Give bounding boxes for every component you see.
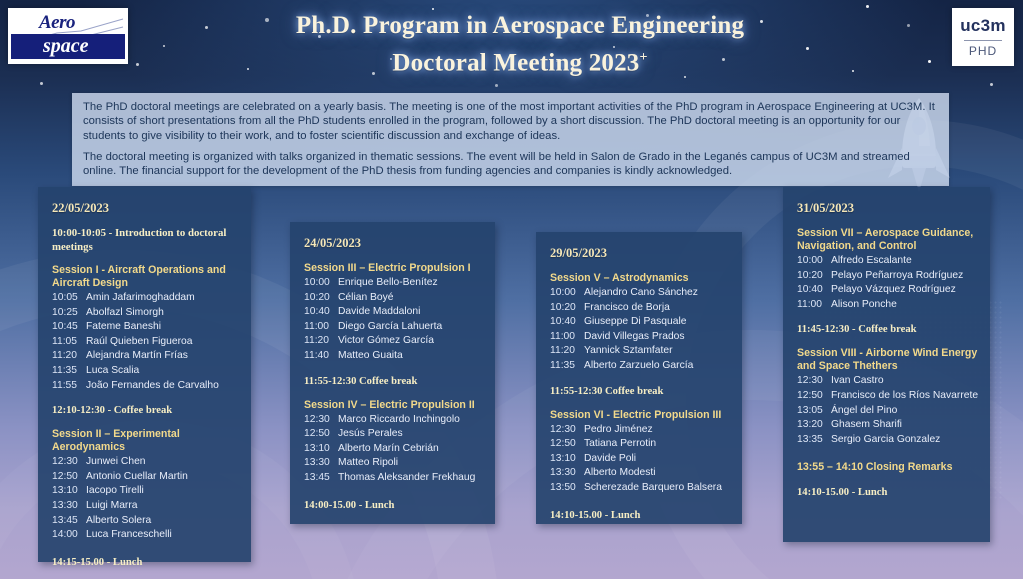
talk-speaker: Célian Boyé [338,291,495,306]
talk-row: 11:00Alison Ponche [797,298,990,313]
talk-speaker: Luca Scalia [86,364,251,379]
page-title: Ph.D. Program in Aerospace Engineering D… [150,10,890,79]
talk-row: 13:10Iacopo Tirelli [52,484,251,499]
talk-row: 10:20Célian Boyé [304,291,495,306]
talk-time: 10:25 [52,306,86,321]
talk-row: 11:55João Fernandes de Carvalho [52,379,251,394]
talk-time: 12:30 [304,413,338,428]
talk-time: 11:40 [304,349,338,364]
talk-speaker: Tatiana Perrotin [584,437,742,452]
talk-row: 10:00Enrique Bello-Benítez [304,276,495,291]
talk-row: 11:20Alejandra Martín Frías [52,349,251,364]
talk-row: 13:45Alberto Solera [52,514,251,529]
intro-text-box: The PhD doctoral meetings are celebrated… [72,93,949,186]
coffee-break-label: 12:10-12:30 - Coffee break [52,405,251,416]
session-title: Session I - Aircraft Operations and Airc… [52,264,251,290]
talk-speaker: Yannick Sztamfater [584,344,742,359]
talk-row: 10:25Abolfazl Simorgh [52,306,251,321]
talk-time: 10:05 [52,291,86,306]
lunch-label: 14:15-15.00 - Lunch [52,557,251,568]
talk-time: 10:00 [797,254,831,269]
talk-row: 13:45Thomas Aleksander Frekhaug [304,471,495,486]
uc3m-divider [964,40,1002,41]
title-line-2: Doctoral Meeting 2023+ [150,42,890,79]
session-title: Session VII – Aerospace Guidance, Naviga… [797,227,990,253]
talk-time: 13:30 [52,499,86,514]
talk-time: 13:30 [304,456,338,471]
talk-time: 14:00 [52,528,86,543]
talk-speaker: Thomas Aleksander Frekhaug [338,471,495,486]
talk-time: 13:10 [304,442,338,457]
talk-speaker: Raúl Quieben Figueroa [86,335,251,350]
talk-time: 11:00 [304,320,338,335]
talk-time: 12:50 [550,437,584,452]
talk-row: 10:00Alfredo Escalante [797,254,990,269]
lunch-label: 14:10-15.00 - Lunch [797,487,990,498]
talk-time: 12:30 [52,455,86,470]
talk-time: 13:05 [797,404,831,419]
talk-speaker: Ghasem Sharifi [831,418,990,433]
lunch-label: 14:10-15.00 - Lunch [550,510,742,521]
star-decoration [907,24,910,27]
closing-remarks-label: 13:55 – 14:10 Closing Remarks [797,461,990,473]
talk-time: 11:20 [52,349,86,364]
coffee-break-label: 11:55-12:30 Coffee break [550,386,742,397]
talk-row: 12:50Francisco de los Ríos Navarrete [797,389,990,404]
talk-speaker: João Fernandes de Carvalho [86,379,251,394]
talk-row: 13:30Alberto Modesti [550,466,742,481]
talk-speaker: Davide Maddaloni [338,305,495,320]
talk-time: 11:20 [550,344,584,359]
talk-speaker: Ángel del Pino [831,404,990,419]
talk-row: 11:20Yannick Sztamfater [550,344,742,359]
title-line-1: Ph.D. Program in Aerospace Engineering [150,10,890,42]
talk-speaker: Alejandro Cano Sánchez [584,286,742,301]
session-title: Session VIII - Airborne Wind Energy and … [797,347,990,373]
talk-row: 10:40Giuseppe Di Pasquale [550,315,742,330]
talk-time: 10:20 [550,301,584,316]
talk-row: 12:50Tatiana Perrotin [550,437,742,452]
talk-time: 10:40 [304,305,338,320]
talk-time: 10:00 [550,286,584,301]
talk-row: 13:10Alberto Marín Cebrián [304,442,495,457]
talk-row: 10:20Pelayo Peñarroya Rodríguez [797,269,990,284]
talk-row: 10:40Davide Maddaloni [304,305,495,320]
talk-row: 11:00David Villegas Prados [550,330,742,345]
star-decoration [928,60,931,63]
talk-row: 13:05Ángel del Pino [797,404,990,419]
day-date: 31/05/2023 [797,201,990,216]
day-date: 24/05/2023 [304,236,495,251]
talk-time: 11:00 [797,298,831,313]
aerospace-logo-word-top: Aero [39,12,75,34]
talk-row: 12:30Junwei Chen [52,455,251,470]
day-panel: 24/05/2023Session III – Electric Propuls… [290,222,495,524]
talk-row: 13:30Luigi Marra [52,499,251,514]
talk-row: 11:00Diego García Lahuerta [304,320,495,335]
talk-speaker: Diego García Lahuerta [338,320,495,335]
talk-speaker: Alfredo Escalante [831,254,990,269]
talk-time: 10:20 [304,291,338,306]
day-note: 10:00-10:05 - Introduction to doctoral m… [52,227,251,254]
talk-time: 11:35 [550,359,584,374]
talk-time: 13:30 [550,466,584,481]
uc3m-phd-text: PHD [969,44,997,58]
talk-row: 10:00Alejandro Cano Sánchez [550,286,742,301]
talk-time: 11:55 [52,379,86,394]
day-date: 29/05/2023 [550,246,742,261]
talk-speaker: Luca Franceschelli [86,528,251,543]
talk-speaker: Alberto Zarzuelo García [584,359,742,374]
day-panel: 22/05/202310:00-10:05 - Introduction to … [38,187,251,562]
talk-row: 12:30Pedro Jiménez [550,423,742,438]
talk-speaker: Pelayo Peñarroya Rodríguez [831,269,990,284]
star-decoration [990,83,993,86]
talk-speaker: Davide Poli [584,452,742,467]
talk-speaker: Luigi Marra [86,499,251,514]
uc3m-phd-logo: uc3m PHD [952,8,1014,66]
talk-time: 13:45 [304,471,338,486]
talk-speaker: Fateme Baneshi [86,320,251,335]
talk-time: 12:50 [304,427,338,442]
intro-paragraph-1: The PhD doctoral meetings are celebrated… [83,100,939,143]
talk-row: 10:45Fateme Baneshi [52,320,251,335]
talk-time: 10:40 [797,283,831,298]
star-decoration [136,63,139,66]
talk-time: 11:20 [304,334,338,349]
talk-time: 10:00 [304,276,338,291]
talk-speaker: Scherezade Barquero Balsera [584,481,742,496]
star-decoration [866,5,869,8]
talk-row: 11:35Luca Scalia [52,364,251,379]
talk-time: 13:10 [550,452,584,467]
talk-speaker: Victor Gómez García [338,334,495,349]
talk-row: 11:40Matteo Guaita [304,349,495,364]
talk-row: 12:50Jesús Perales [304,427,495,442]
talk-speaker: Abolfazl Simorgh [86,306,251,321]
talk-time: 13:50 [550,481,584,496]
talk-speaker: David Villegas Prados [584,330,742,345]
coffee-break-label: 11:45-12:30 - Coffee break [797,324,990,335]
talk-speaker: Matteo Ripoli [338,456,495,471]
session-title: Session VI - Electric Propulsion III [550,409,742,422]
talk-speaker: Alison Ponche [831,298,990,313]
talk-time: 13:35 [797,433,831,448]
talk-time: 13:45 [52,514,86,529]
day-date: 22/05/2023 [52,201,251,216]
talk-speaker: Alberto Modesti [584,466,742,481]
talk-speaker: Junwei Chen [86,455,251,470]
talk-speaker: Iacopo Tirelli [86,484,251,499]
talk-speaker: Marco Riccardo Inchingolo [338,413,495,428]
talk-row: 11:05Raúl Quieben Figueroa [52,335,251,350]
talk-row: 11:20Victor Gómez García [304,334,495,349]
talk-row: 12:30Ivan Castro [797,374,990,389]
day-panel: 31/05/2023Session VII – Aerospace Guidan… [783,187,990,542]
talk-speaker: Francisco de Borja [584,301,742,316]
session-title: Session II – Experimental Aerodynamics [52,428,251,454]
title-line-2-text: Doctoral Meeting 2023 [392,49,639,76]
aerospace-logo: Aero space [8,8,128,64]
talk-speaker: Amin Jafarimoghaddam [86,291,251,306]
session-title: Session V – Astrodynamics [550,272,742,285]
talk-time: 10:40 [550,315,584,330]
talk-speaker: Francisco de los Ríos Navarrete [831,389,990,404]
coffee-break-label: 11:55-12:30 Coffee break [304,376,495,387]
talk-row: 13:35Sergio Garcia Gonzalez [797,433,990,448]
talk-speaker: Alberto Solera [86,514,251,529]
talk-row: 13:50Scherezade Barquero Balsera [550,481,742,496]
talk-speaker: Alejandra Martín Frías [86,349,251,364]
talk-row: 10:05Amin Jafarimoghaddam [52,291,251,306]
talk-speaker: Pedro Jiménez [584,423,742,438]
aerospace-logo-word-bottom: space [43,35,89,58]
talk-time: 10:20 [797,269,831,284]
talk-speaker: Antonio Cuellar Martin [86,470,251,485]
talk-time: 11:00 [550,330,584,345]
talk-speaker: Matteo Guaita [338,349,495,364]
talk-time: 12:30 [550,423,584,438]
talk-speaker: Ivan Castro [831,374,990,389]
talk-time: 12:50 [797,389,831,404]
talk-row: 13:30Matteo Ripoli [304,456,495,471]
intro-paragraph-2: The doctoral meeting is organized with t… [83,150,939,179]
talk-time: 12:50 [52,470,86,485]
session-title: Session IV – Electric Propulsion II [304,399,495,412]
star-decoration [40,82,43,85]
talk-speaker: Alberto Marín Cebrián [338,442,495,457]
talk-speaker: Sergio Garcia Gonzalez [831,433,990,448]
talk-speaker: Jesús Perales [338,427,495,442]
session-title: Session III – Electric Propulsion I [304,262,495,275]
uc3m-brand-text: uc3m [960,16,1006,36]
talk-time: 12:30 [797,374,831,389]
talk-speaker: Enrique Bello-Benítez [338,276,495,291]
slide-root: Aero space uc3m PHD Ph.D. Program in Aer… [0,0,1023,579]
talk-row: 12:30Marco Riccardo Inchingolo [304,413,495,428]
talk-time: 10:45 [52,320,86,335]
talk-row: 12:50Antonio Cuellar Martin [52,470,251,485]
lunch-label: 14:00-15.00 - Lunch [304,500,495,511]
talk-time: 13:10 [52,484,86,499]
talk-row: 10:20Francisco de Borja [550,301,742,316]
talk-row: 13:10Davide Poli [550,452,742,467]
talk-time: 11:35 [52,364,86,379]
talk-speaker: Giuseppe Di Pasquale [584,315,742,330]
talk-row: 10:40Pelayo Vázquez Rodríguez [797,283,990,298]
title-superscript: + [640,50,648,65]
talk-row: 14:00Luca Franceschelli [52,528,251,543]
star-decoration [495,84,498,87]
talk-row: 11:35Alberto Zarzuelo García [550,359,742,374]
talk-time: 11:05 [52,335,86,350]
talk-speaker: Pelayo Vázquez Rodríguez [831,283,990,298]
talk-time: 13:20 [797,418,831,433]
talk-row: 13:20Ghasem Sharifi [797,418,990,433]
day-panel: 29/05/2023Session V – Astrodynamics10:00… [536,232,742,524]
